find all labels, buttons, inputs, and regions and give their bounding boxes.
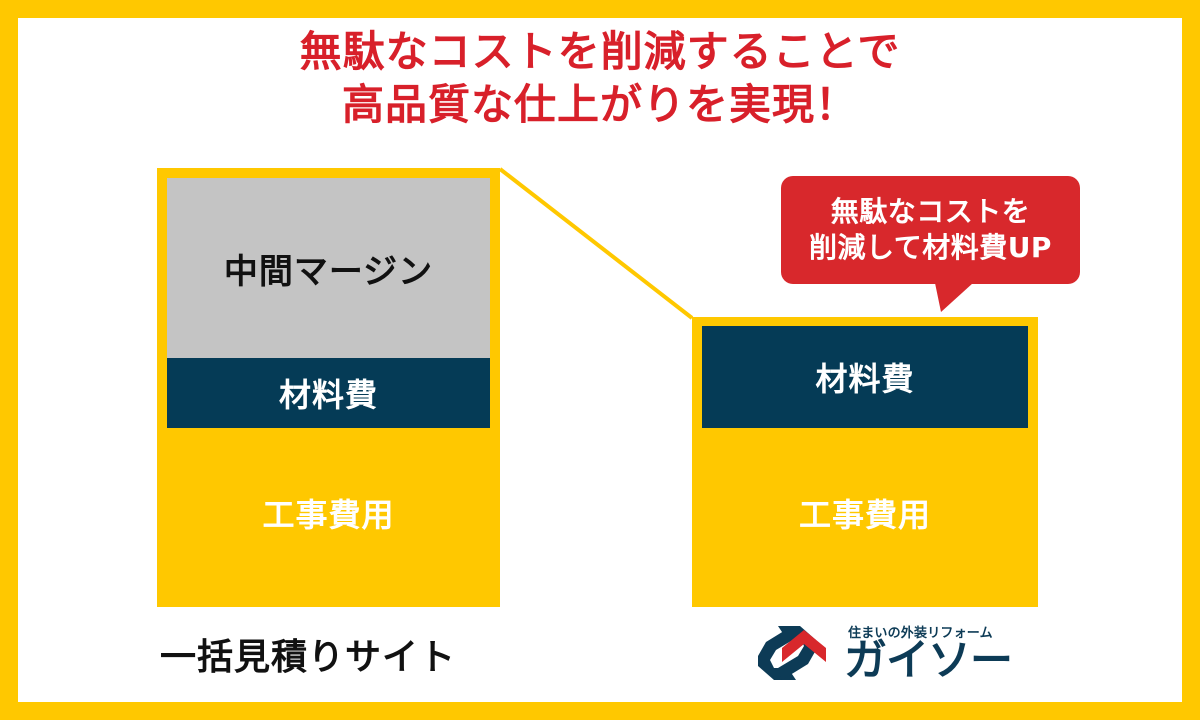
bar-before[interactable]: 中間マージン 材料費 工事費用 [157, 168, 500, 607]
brand-logo[interactable]: 住まいの外装リフォーム ガイソー [752, 620, 984, 692]
segment-label-construction-before: 工事費用 [262, 490, 394, 536]
bar-after[interactable]: 材料費 工事費用 [692, 317, 1038, 607]
segment-label-material-before: 材料費 [279, 370, 378, 416]
callout-bubble-text: 無駄なコストを 削減して材料費UP [809, 194, 1052, 266]
frame-edge-bottom [0, 702, 1200, 720]
segment-construction-cost-before[interactable]: 工事費用 [167, 428, 490, 597]
gaiso-house-chevron-icon [752, 622, 838, 686]
footer-caption: 一括見積りサイト [160, 628, 456, 680]
segment-label-margin: 中間マージン [224, 244, 433, 293]
logo-text-group: 住まいの外装リフォーム ガイソー [844, 620, 984, 692]
callout-bubble-tail [935, 283, 973, 312]
segment-material-cost-before[interactable]: 材料費 [167, 358, 490, 428]
infographic-canvas: 無駄なコストを削減することで 高品質な仕上がりを実現！ 中間マージン 材料費 工… [0, 0, 1200, 720]
callout-bubble: 無駄なコストを 削減して材料費UP [781, 176, 1080, 284]
segment-material-cost-after[interactable]: 材料費 [702, 326, 1028, 428]
segment-label-material-after: 材料費 [815, 354, 914, 400]
segment-construction-cost-after[interactable]: 工事費用 [702, 428, 1028, 597]
frame-edge-top [0, 0, 1200, 18]
logo-brand-name: ガイソー [844, 640, 1012, 683]
segment-intermediate-margin[interactable]: 中間マージン [167, 178, 490, 358]
segment-label-construction-after: 工事費用 [799, 490, 931, 536]
headline-text: 無駄なコストを削減することで 高品質な仕上がりを実現！ [0, 26, 1200, 132]
